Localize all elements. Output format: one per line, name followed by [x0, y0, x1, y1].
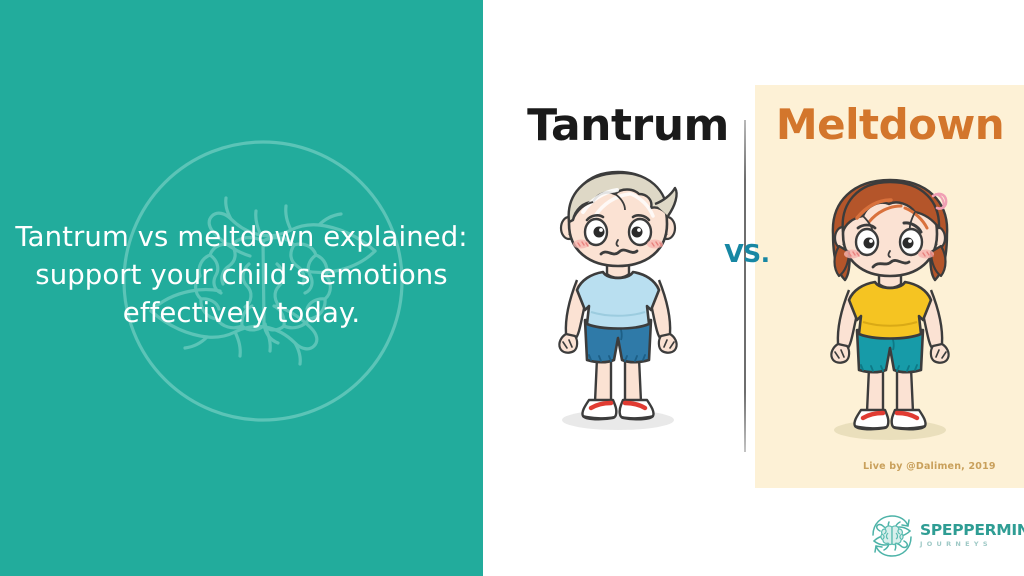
comparison-divider-line: [744, 120, 746, 452]
meltdown-label: Meltdown: [765, 100, 1015, 149]
logo-brand-name: SPEPPERMINT: [920, 522, 1020, 538]
vs-label: VS.: [721, 239, 773, 268]
brain-in-hands-circle-logo-icon: [868, 512, 916, 560]
left-teal-panel: Tantrum vs meltdown explained: support y…: [0, 0, 483, 576]
worried-boy-illustration: [533, 162, 703, 442]
upset-girl-illustration: [805, 172, 975, 452]
comparison-area: Tantrum Meltdown: [483, 0, 1024, 576]
logo-text-block: SPEPPERMINT JOURNEYS: [920, 522, 1020, 550]
illustration-attribution: Live by @Dalimen, 2019: [863, 461, 1013, 472]
logo-brand-subtitle: JOURNEYS: [920, 538, 1020, 550]
page-headline: Tantrum vs meltdown explained: support y…: [0, 218, 483, 332]
tantrum-label: Tantrum: [513, 100, 743, 151]
slide-canvas: Tantrum vs meltdown explained: support y…: [0, 0, 1024, 576]
brand-logo[interactable]: SPEPPERMINT JOURNEYS: [868, 512, 1018, 564]
